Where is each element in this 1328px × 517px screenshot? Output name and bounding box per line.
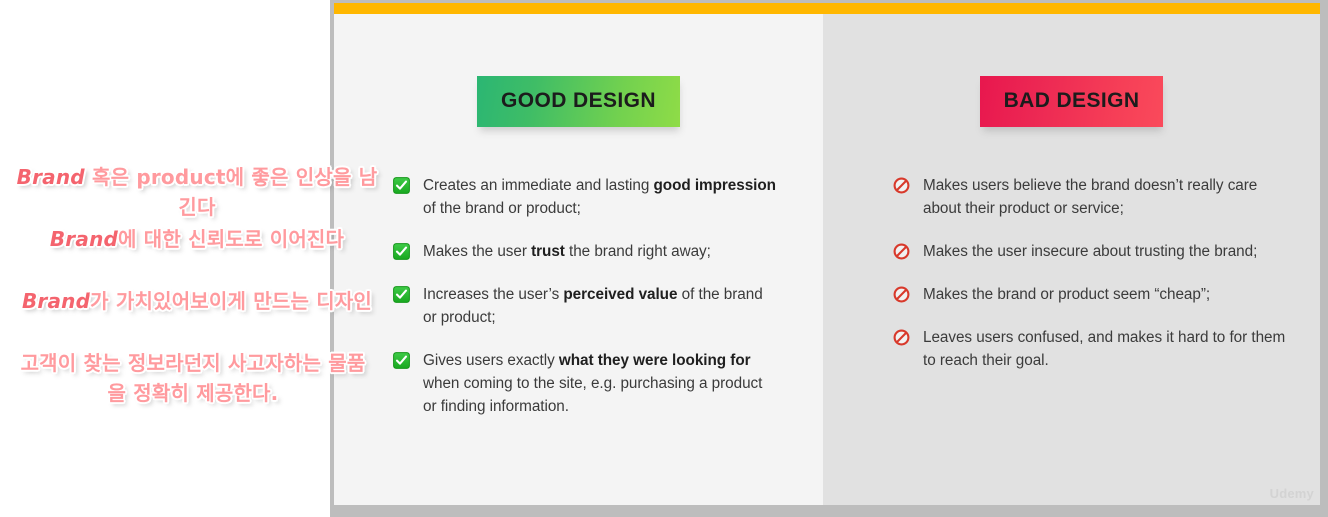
list-item: Makes the user trust the brand right awa…	[393, 240, 777, 263]
bad-design-panel: BAD DESIGN Makes users believe the brand…	[823, 14, 1320, 505]
bad-design-header: BAD DESIGN	[980, 76, 1164, 127]
good-design-list: Creates an immediate and lasting good im…	[393, 174, 777, 438]
bad-design-list: Makes users believe the brand doesn’t re…	[893, 174, 1288, 392]
emphasis: perceived value	[563, 286, 677, 303]
list-item: Increases the user’s perceived value of …	[393, 283, 777, 329]
list-item-text: Leaves users confused, and makes it hard…	[923, 326, 1288, 372]
prohibited-icon	[893, 243, 910, 260]
list-item-text: Increases the user’s perceived value of …	[423, 283, 777, 329]
good-design-header: GOOD DESIGN	[477, 76, 680, 127]
good-design-panel: GOOD DESIGN Creates an immediate and las…	[334, 14, 823, 505]
list-item-text: Makes the brand or product seem “cheap”;	[923, 283, 1210, 306]
check-mark-button-icon	[393, 177, 410, 194]
annotation-latin-word: Brand	[17, 165, 85, 189]
check-mark-button-icon	[393, 352, 410, 369]
list-item: Makes users believe the brand doesn’t re…	[893, 174, 1288, 220]
list-item-text: Makes users believe the brand doesn’t re…	[923, 174, 1288, 220]
list-item-text: Makes the user insecure about trusting t…	[923, 240, 1257, 263]
emphasis: trust	[531, 243, 565, 260]
list-item: Gives users exactly what they were looki…	[393, 349, 777, 418]
annotation-layer	[0, 0, 330, 517]
annotation-line-1: Brand 혹은 product에 좋은 인상을 남긴다	[8, 162, 386, 222]
emphasis: what they were looking for	[559, 352, 751, 369]
bad-design-header-wrap: BAD DESIGN	[823, 76, 1320, 127]
list-item: Leaves users confused, and makes it hard…	[893, 326, 1288, 372]
emphasis: good impression	[653, 177, 775, 194]
annotation-latin-word: Brand	[22, 289, 90, 313]
list-item-text: Creates an immediate and lasting good im…	[423, 174, 777, 220]
prohibited-icon	[893, 286, 910, 303]
accent-bar	[334, 3, 1320, 14]
check-mark-button-icon	[393, 243, 410, 260]
list-item: Creates an immediate and lasting good im…	[393, 174, 777, 220]
prohibited-icon	[893, 177, 910, 194]
prohibited-icon	[893, 329, 910, 346]
list-item-text: Makes the user trust the brand right awa…	[423, 240, 711, 263]
udemy-watermark: Udemy	[1270, 486, 1314, 501]
list-item: Makes the user insecure about trusting t…	[893, 240, 1288, 263]
check-mark-button-icon	[393, 286, 410, 303]
slide-body: GOOD DESIGN Creates an immediate and las…	[334, 14, 1320, 505]
list-item-text: Gives users exactly what they were looki…	[423, 349, 777, 418]
list-item: Makes the brand or product seem “cheap”;	[893, 283, 1288, 306]
annotation-line-4: 고객이 찾는 정보라던지 사고자하는 물품 을 정확히 제공한다.	[2, 348, 384, 408]
annotation-latin-word: Brand	[50, 227, 118, 251]
annotation-line-2: Brand에 대한 신뢰도로 이어진다	[8, 224, 386, 254]
annotation-line-3: Brand가 가치있어보이게 만드는 디자인	[8, 286, 386, 316]
good-design-header-wrap: GOOD DESIGN	[334, 76, 823, 127]
